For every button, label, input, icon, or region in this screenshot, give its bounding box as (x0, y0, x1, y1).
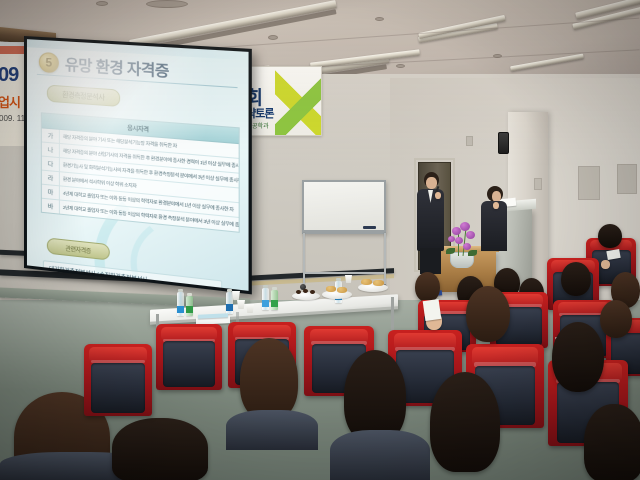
audience-head (598, 224, 622, 248)
seat-back-pad (163, 341, 214, 387)
audience-head (344, 350, 406, 442)
row-key: 라 (42, 171, 60, 186)
bottle-label (177, 306, 184, 313)
slide-number-badge: 5 (39, 52, 59, 73)
bottle-cap (263, 285, 268, 288)
slide-qualification-table: 응시자격 가 해당 자격증의 분야 기사 또는 해당분석기능장 자격을 취득한 … (41, 112, 240, 233)
seat (84, 344, 152, 416)
water-bottle (186, 296, 193, 316)
bread-item (361, 279, 372, 285)
row-key: 나 (42, 142, 60, 157)
presenter-face (426, 177, 437, 189)
orchid-petal (448, 236, 455, 242)
audience-head (240, 338, 298, 420)
row-key: 다 (42, 157, 60, 172)
bottle-label (226, 304, 233, 311)
bottle-label (271, 300, 278, 307)
ceiling-sprinkler (268, 35, 278, 40)
projected-slide: 5 유망 환경 자격증 환경측정분석사 응시자격 가 해당 자격증의 분야 기사… (27, 39, 249, 291)
audience-head (466, 286, 510, 342)
orchid-petal (463, 243, 471, 250)
flower-stem (458, 232, 459, 256)
water-bottle (262, 288, 269, 310)
loudspeaker-icon (498, 132, 509, 154)
audience-head (552, 322, 604, 392)
banner-highlight-text: 업시 (0, 92, 20, 111)
wall-panel (578, 166, 600, 200)
ceiling-smoke-detector (146, 0, 188, 8)
audience-hand (601, 260, 610, 269)
snack-item (303, 289, 308, 293)
bread-item (337, 287, 347, 293)
orchid-petal (455, 237, 463, 244)
presenter-hand (435, 192, 441, 199)
row-key: 바 (42, 199, 60, 214)
wall-fixture (534, 178, 542, 190)
projection-screen: 5 유망 환경 자격증 환경측정분석사 응시자격 가 해당 자격증의 분야 기사… (24, 36, 252, 294)
snack-item (310, 290, 315, 294)
ceiling-sprinkler (375, 17, 384, 21)
bottle-cap (272, 287, 277, 290)
wall-fixture (466, 136, 473, 146)
water-bottle (271, 290, 278, 310)
audience-handout (423, 299, 442, 321)
bottle-cap (187, 293, 192, 296)
bread-item (373, 280, 384, 286)
bread-item (326, 286, 336, 292)
audience-head (430, 372, 500, 472)
bottle-cap (178, 289, 183, 292)
row-key: 마 (42, 185, 60, 200)
water-bottle (177, 292, 184, 316)
chevron-graphic-icon (275, 69, 322, 135)
lecture-hall-photo: 09 업시 009. 11. 수회 전략토론 환경공학과 5 유망 환경 자격증… (0, 0, 640, 480)
bottle-label (262, 300, 269, 307)
wall-panel (617, 164, 637, 194)
table-leg (391, 297, 394, 331)
paper-cup (246, 304, 254, 313)
whiteboard-crossbar (303, 272, 385, 274)
whiteboard-leg (303, 233, 305, 285)
slide-pill-top: 환경측정분석사 (47, 85, 120, 107)
ceiling-sprinkler (396, 64, 405, 68)
bottle-cap (227, 289, 232, 292)
ceiling-sprinkler (96, 1, 108, 6)
bottle-cap (336, 278, 341, 281)
seat (156, 324, 222, 390)
bottle-label (186, 306, 193, 313)
orchid-petal (460, 222, 470, 231)
audience-head (584, 404, 640, 480)
orchid-petal (466, 231, 475, 239)
paper-cup (345, 275, 352, 283)
flower-leaf (468, 250, 477, 256)
audience-shoulders (226, 410, 318, 450)
whiteboard-leg (384, 233, 386, 285)
paper-cup (232, 291, 240, 300)
presenter-legs (420, 248, 441, 274)
paper-cup (237, 300, 245, 309)
seat-back-pad (91, 363, 144, 413)
whiteboard-eraser (363, 226, 376, 229)
whiteboard (302, 180, 386, 234)
audience-shoulders (330, 430, 430, 480)
audience-head (112, 418, 208, 480)
banner-year-number: 09 (0, 64, 18, 87)
audience-head (415, 272, 440, 302)
flower-leaf (446, 248, 455, 254)
water-bottle (226, 292, 233, 314)
lectern-person-hand (493, 202, 499, 209)
audience-head (561, 262, 591, 296)
snack-item (296, 290, 301, 294)
row-key: 가 (42, 128, 60, 143)
audience-head (600, 300, 632, 338)
